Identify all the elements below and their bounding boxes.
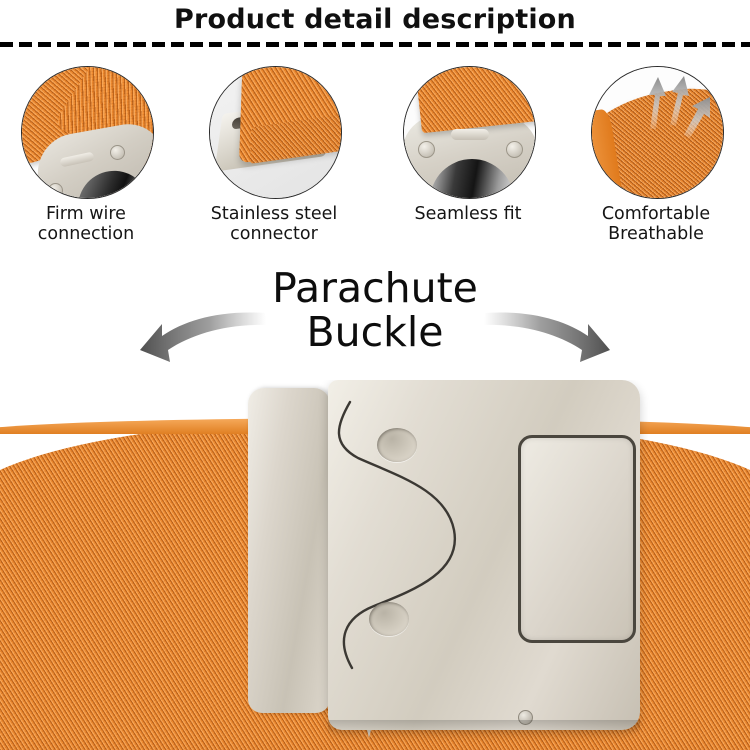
feature-image-comfortable-breathable	[591, 66, 724, 199]
feature-item-seamless-fit: Seamless fit	[374, 60, 562, 250]
feature-label-line1: Stainless steel	[211, 204, 337, 224]
feature-label: Stainless steel connector	[180, 204, 368, 244]
feature-image-seamless-fit	[403, 66, 536, 199]
feature-label-line2: connection	[38, 224, 134, 244]
feature-item-firm-wire-connection: Firm wire connection	[0, 60, 180, 250]
feature-label: Firm wire connection	[0, 204, 180, 244]
buckle-release-button[interactable]	[518, 435, 636, 643]
hero-title-line1: Parachute	[272, 264, 478, 312]
product-photo	[0, 380, 750, 750]
feature-label: Seamless fit	[374, 204, 562, 224]
product-detail-infographic: Product detail description Firm wire con…	[0, 0, 750, 750]
feature-image-firm-wire-connection	[21, 66, 154, 199]
hero-title: Parachute Buckle	[0, 266, 750, 354]
buckle-hole-top	[377, 428, 417, 462]
airflow-arrows-icon	[592, 67, 723, 198]
feature-label-line2: Breathable	[608, 224, 704, 244]
feature-label-line1: Firm wire	[46, 204, 126, 224]
feature-label-line1: Comfortable	[602, 204, 710, 224]
strap-texture	[415, 66, 536, 133]
parachute-buckle	[240, 380, 650, 750]
hero-title-line2: Buckle	[306, 308, 443, 356]
buckle-keeper-loop	[248, 388, 330, 713]
buckle-hole-bottom	[369, 602, 409, 636]
feature-label-line1: Seamless fit	[415, 204, 522, 224]
feature-row: Firm wire connection Stainless steel con…	[0, 60, 750, 250]
feature-label: Comfortable Breathable	[562, 204, 750, 244]
feature-item-stainless-steel-connector: Stainless steel connector	[180, 60, 368, 250]
feature-image-stainless-steel-connector	[209, 66, 342, 199]
page-title: Product detail description	[0, 4, 750, 35]
feature-label-line2: connector	[230, 224, 318, 244]
feature-item-comfortable-breathable: Comfortable Breathable	[562, 60, 750, 250]
dashed-divider	[0, 42, 750, 47]
